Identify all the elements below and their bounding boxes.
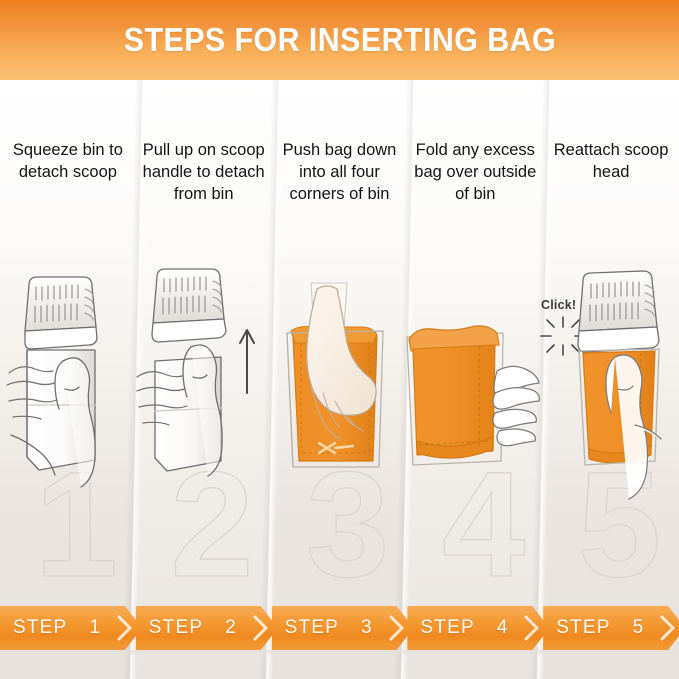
hand-squeezing-bin-icon <box>7 265 127 505</box>
lifting-scoop-icon <box>137 265 265 505</box>
step-banner-label: STEP <box>0 617 67 639</box>
steps-board: 1 2 3 4 5 Squeeze bin to detach scoop Pu… <box>0 80 679 679</box>
step-banner-number: 5 <box>620 617 645 639</box>
step-banner-number: 3 <box>348 617 373 639</box>
step-banner-number: 2 <box>212 617 237 639</box>
page-title: STEPS FOR INSERTING BAG <box>123 21 555 59</box>
click-annotation: Click! <box>541 298 576 312</box>
caption-cell-5: Reattach scoop head <box>543 140 679 206</box>
chevron-right-icon <box>116 615 133 641</box>
step-banner-cell-1: STEP 1 <box>0 606 136 656</box>
chevron-right-icon <box>523 615 540 641</box>
caption-cell-1: Squeeze bin to detach scoop <box>0 140 136 206</box>
caption-cell-4: Fold any excess bag over outside of bin <box>407 140 543 206</box>
illustration-step-5: Click! <box>539 265 679 515</box>
step-banner-row: STEP 1 STEP 2 STEP 3 <box>0 606 679 656</box>
instruction-poster: STEPS FOR INSERTING BAG 1 2 3 4 5 Squeez… <box>0 0 679 679</box>
step-banner-label: STEP <box>272 617 339 639</box>
step-caption: Reattach scoop head <box>549 140 673 184</box>
caption-cell-2: Pull up on scoop handle to detach from b… <box>136 140 272 206</box>
illustration-step-4 <box>403 265 539 515</box>
step-banner-label: STEP <box>136 617 203 639</box>
chevron-right-icon <box>252 615 269 641</box>
step-banner-cell-4: STEP 4 <box>407 606 543 656</box>
step-banner-label: STEP <box>407 617 474 639</box>
step-banner-cell-3: STEP 3 <box>272 606 408 656</box>
illustration-step-3 <box>269 265 403 515</box>
illustration-step-2 <box>134 265 268 515</box>
step-illustrations: Click! <box>0 265 679 515</box>
caption-cell-3: Push bag down into all four corners of b… <box>272 140 408 206</box>
step-banner-cell-2: STEP 2 <box>136 606 272 656</box>
step-banner-number: 1 <box>76 617 101 639</box>
step-captions: Squeeze bin to detach scoop Pull up on s… <box>0 140 679 206</box>
step-caption: Squeeze bin to detach scoop <box>6 140 130 184</box>
chevron-right-icon <box>659 615 676 641</box>
step-banner-number: 4 <box>484 617 509 639</box>
step-banner-cell-5: STEP 5 <box>543 606 679 656</box>
step-banner-label: STEP <box>543 617 610 639</box>
bag-folded-over-bin-icon <box>403 265 539 505</box>
step-caption: Pull up on scoop handle to detach from b… <box>142 140 266 206</box>
pushing-bag-into-bin-icon <box>277 265 395 505</box>
poster-header: STEPS FOR INSERTING BAG <box>0 0 679 80</box>
illustration-step-1 <box>0 265 134 515</box>
step-caption: Fold any excess bag over outside of bin <box>413 140 537 206</box>
chevron-right-icon <box>388 615 405 641</box>
step-caption: Push bag down into all four corners of b… <box>278 140 402 206</box>
reattach-scoop-icon: Click! <box>539 265 679 510</box>
